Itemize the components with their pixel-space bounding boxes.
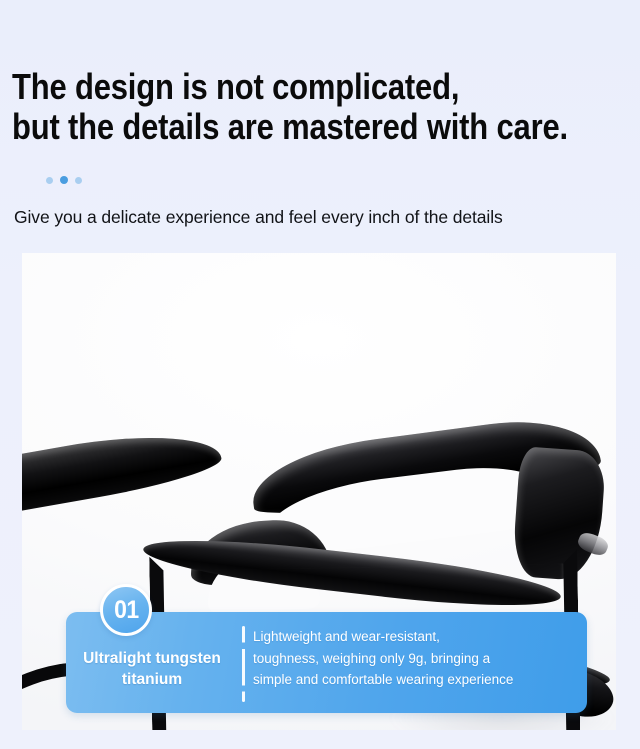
page-title: The design is not complicated, but the d… [12, 68, 552, 146]
product-feature-banner: The design is not complicated, but the d… [0, 0, 640, 749]
feature-description-line-3: simple and comfortable wearing experienc… [253, 669, 583, 691]
feature-description-line-1: Lightweight and wear-resistant, [253, 626, 583, 648]
decorative-dots [46, 176, 82, 184]
feature-divider [242, 626, 245, 702]
dot-icon-3 [75, 177, 82, 184]
feature-title: Ultralight tungsten titanium [66, 648, 238, 690]
feature-description: Lightweight and wear-resistant, toughnes… [253, 626, 583, 691]
feature-description-line-2: toughness, weighing only 9g, bringing a [253, 648, 583, 670]
dot-icon-2 [60, 176, 68, 184]
feature-number-label: 01 [114, 598, 139, 623]
headline-line-2: but the details are mastered with care. [12, 108, 552, 146]
feature-number-badge: 01 [100, 584, 152, 636]
headline-line-1: The design is not complicated, [12, 68, 552, 106]
page-subtitle: Give you a delicate experience and feel … [14, 205, 634, 229]
frame-left-top-rim [22, 420, 224, 532]
dot-icon-1 [46, 177, 53, 184]
